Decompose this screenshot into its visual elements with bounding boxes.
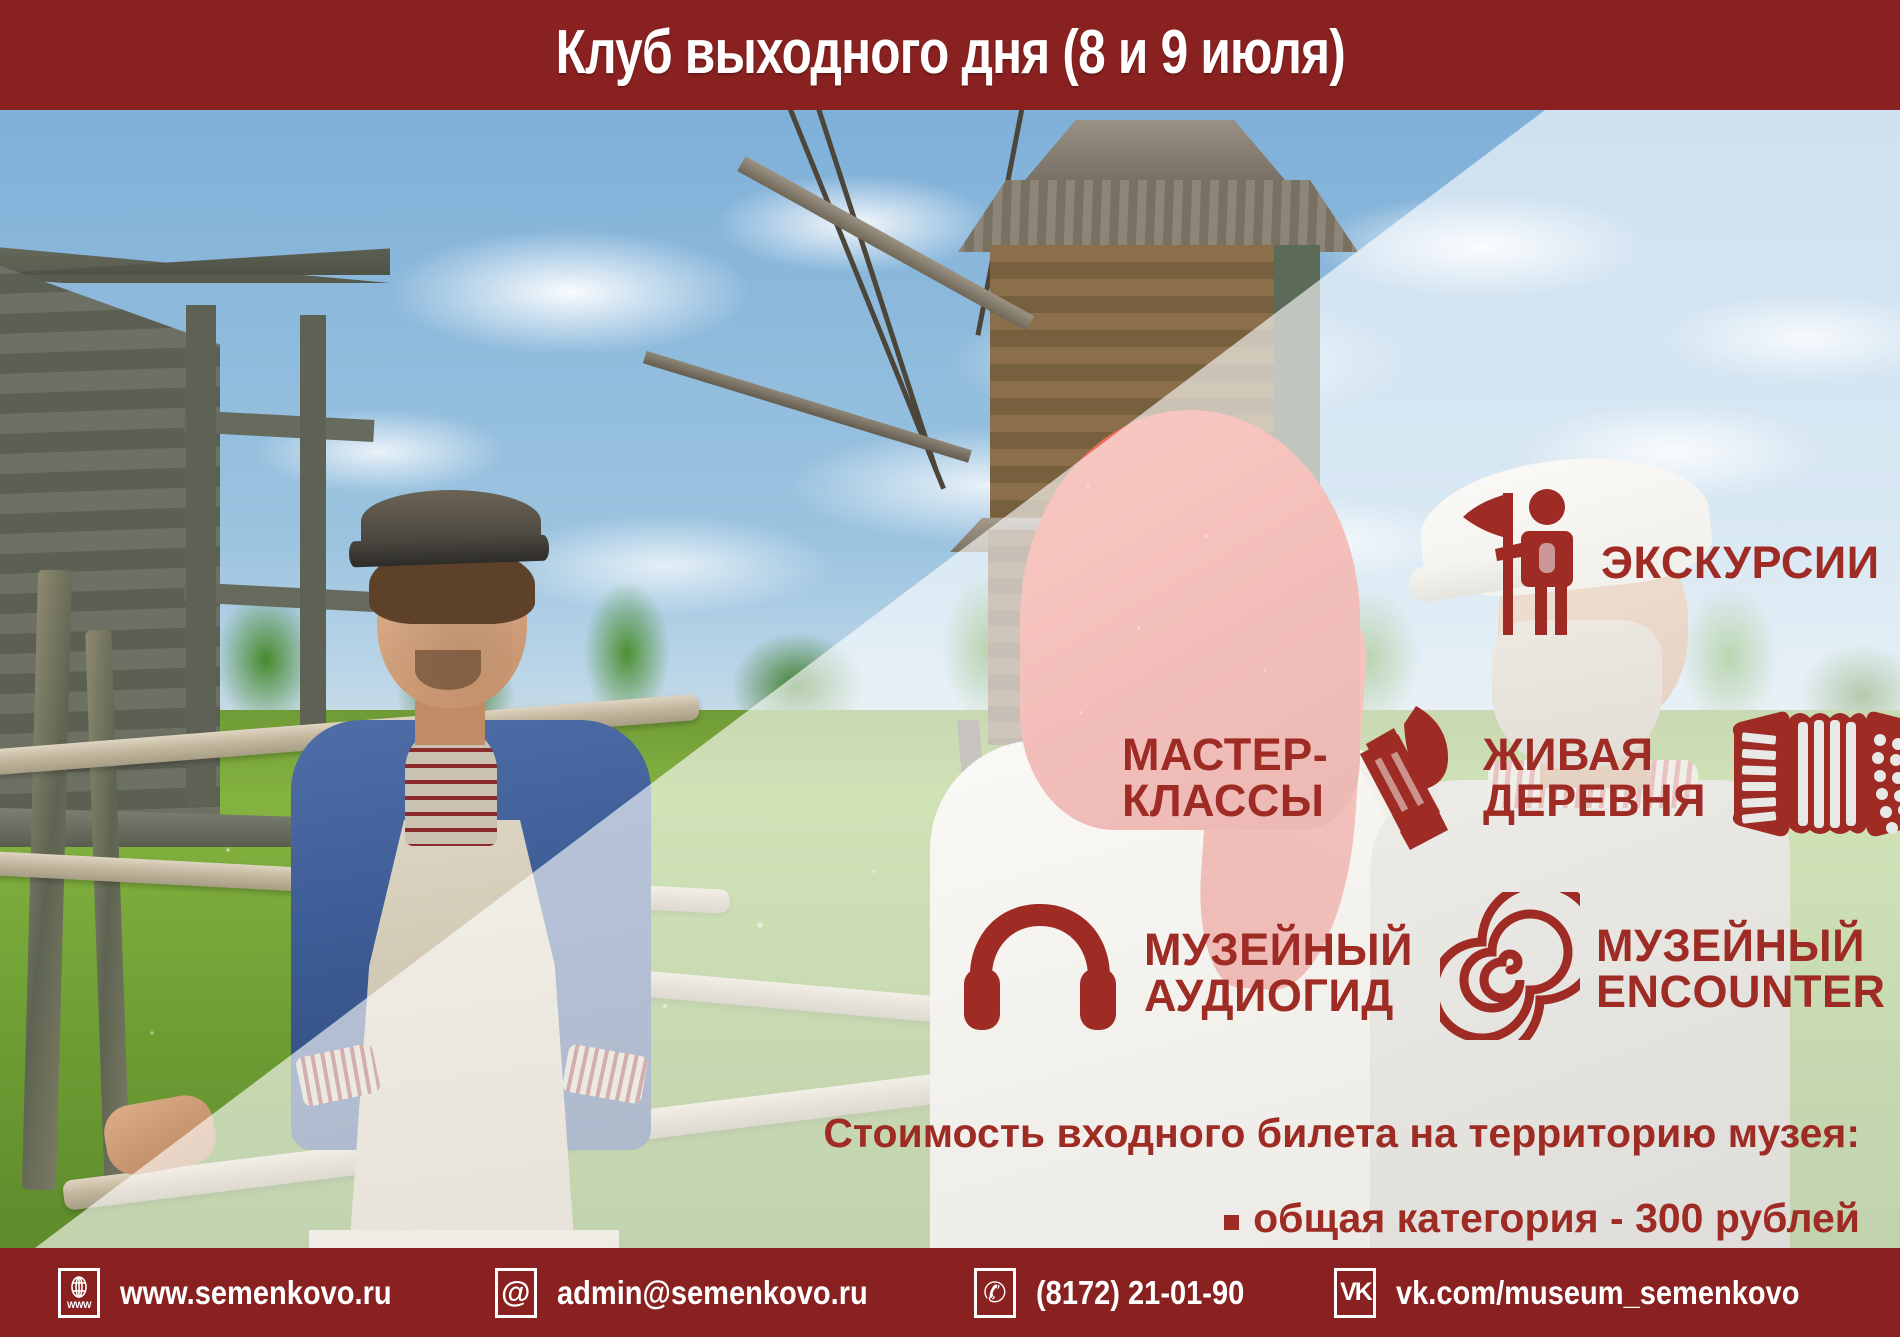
- bullet-icon: [1224, 1215, 1239, 1230]
- globe-www-icon: WWW: [58, 1268, 100, 1318]
- photo-stage: ЭКСКУРСИИ МАСТЕР- КЛАССЫ: [0, 110, 1900, 1248]
- poster: Клуб выходного дня (8 и 9 июля): [0, 0, 1900, 1337]
- feature-living-village-label: ЖИВАЯ ДЕРЕВНЯ: [1483, 732, 1706, 824]
- feature-museum-audioguide[interactable]: МУЗЕЙНЫЙ АУДИОГИД: [960, 900, 1413, 1045]
- headphones-icon: [960, 900, 1120, 1045]
- at-email-icon: @: [495, 1268, 537, 1318]
- contact-email-text: admin@semenkovo.ru: [557, 1274, 868, 1312]
- feature-museum-encounter-label: МУЗЕЙНЫЙ ENCOUNTER: [1596, 923, 1886, 1015]
- feature-museum-audioguide-label: МУЗЕЙНЫЙ АУДИОГИД: [1144, 927, 1413, 1019]
- vk-icon: VK: [1334, 1268, 1376, 1318]
- feature-living-village[interactable]: ЖИВАЯ ДЕРЕВНЯ: [1483, 700, 1900, 855]
- contact-phone-text: (8172) 21-01-90: [1036, 1274, 1244, 1312]
- pricing-item-general-text: общая категория - 300 рублей: [1253, 1195, 1860, 1241]
- pricing-block: Стоимость входного билета на территорию …: [0, 1110, 1900, 1248]
- www-caption: WWW: [67, 1301, 91, 1310]
- contact-email[interactable]: @ admin@semenkovo.ru: [495, 1268, 910, 1318]
- contact-vk[interactable]: VK vk.com/museum_semenkovo: [1334, 1268, 1855, 1318]
- page-title: Клуб выходного дня (8 и 9 июля): [555, 22, 1344, 88]
- header-band: Клуб выходного дня (8 и 9 июля): [0, 0, 1900, 110]
- guide-with-flag-icon: [1455, 485, 1585, 640]
- feature-excursions-label: ЭКСКУРСИИ: [1601, 540, 1880, 586]
- contact-vk-text: vk.com/museum_semenkovo: [1396, 1274, 1800, 1312]
- feature-master-classes[interactable]: МАСТЕР- КЛАССЫ: [1122, 700, 1462, 855]
- phone-icon: ✆: [974, 1268, 1016, 1318]
- contact-website-text: www.semenkovo.ru: [120, 1274, 392, 1312]
- contact-phone[interactable]: ✆ (8172) 21-01-90: [974, 1268, 1273, 1318]
- contact-website[interactable]: WWW www.semenkovo.ru: [58, 1268, 429, 1318]
- feature-icons-layer: ЭКСКУРСИИ МАСТЕР- КЛАССЫ: [0, 110, 1900, 1248]
- pricing-title: Стоимость входного билета на территорию …: [0, 1110, 1900, 1157]
- feature-excursions[interactable]: ЭКСКУРСИИ: [1455, 485, 1880, 640]
- footer-contact-bar: WWW www.semenkovo.ru @ admin@semenkovo.r…: [0, 1248, 1900, 1337]
- pencil-brush-icon: [1344, 700, 1462, 855]
- feature-museum-encounter[interactable]: МУЗЕЙНЫЙ ENCOUNTER: [1440, 892, 1886, 1045]
- pricing-item-general: общая категория - 300 рублей: [0, 1195, 1900, 1242]
- accordion-icon: [1728, 700, 1900, 855]
- feature-master-classes-label: МАСТЕР- КЛАССЫ: [1122, 732, 1328, 824]
- spiral-icon: [1440, 892, 1580, 1045]
